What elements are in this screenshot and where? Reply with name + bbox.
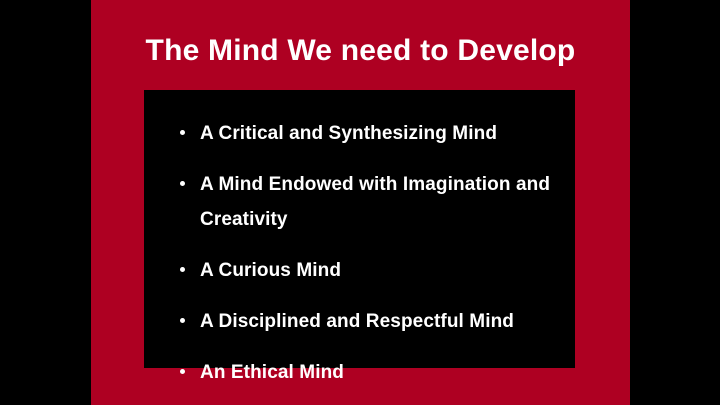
list-item-label: An Ethical Mind: [200, 355, 560, 390]
bullet-dot-icon: [180, 267, 185, 272]
list-item-label: A Curious Mind: [200, 253, 560, 288]
list-item: A Mind Endowed with Imagination and Crea…: [180, 167, 560, 237]
presentation-slide: The Mind We need to Develop A Critical a…: [0, 0, 720, 405]
bullet-dot-icon: [180, 181, 185, 186]
list-item: A Curious Mind: [180, 253, 560, 288]
bullet-dot-icon: [180, 130, 185, 135]
list-item-label: A Critical and Synthesizing Mind: [200, 116, 560, 151]
list-item: A Critical and Synthesizing Mind: [180, 116, 560, 151]
slide-content-box: A Critical and Synthesizing Mind A Mind …: [144, 90, 575, 368]
list-item: A Disciplined and Respectful Mind: [180, 304, 560, 339]
bullet-list: A Critical and Synthesizing Mind A Mind …: [180, 116, 560, 390]
list-item-label: A Mind Endowed with Imagination and Crea…: [200, 167, 560, 237]
bullet-dot-icon: [180, 318, 185, 323]
slide-title: The Mind We need to Develop: [91, 33, 630, 69]
bullet-dot-icon: [180, 369, 185, 374]
list-item-label: A Disciplined and Respectful Mind: [200, 304, 560, 339]
list-item: An Ethical Mind: [180, 355, 560, 390]
